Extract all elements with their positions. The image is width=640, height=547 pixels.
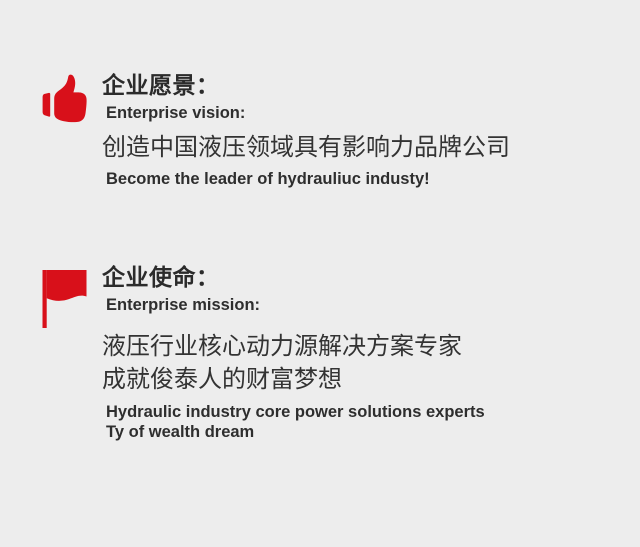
mission-body-en: Hydraulic industry core power solutions … — [102, 402, 485, 443]
mission-heading: 企业使命： — [102, 264, 485, 291]
vision-icon-container — [0, 72, 102, 126]
thumbs-up-icon — [42, 72, 88, 126]
vision-section: 企业愿景： Enterprise vision: 创造中国液压领域具有影响力品牌… — [0, 72, 510, 189]
vision-body-cn: 创造中国液压领域具有影响力品牌公司 — [102, 131, 510, 164]
vision-body-cn-line: 创造中国液压领域具有影响力品牌公司 — [102, 131, 510, 164]
vision-subheading: Enterprise vision: — [102, 103, 510, 124]
mission-text-container: 企业使命： Enterprise mission: 液压行业核心动力源解决方案专… — [102, 264, 485, 443]
vision-body-en: Become the leader of hydrauliuc industy! — [102, 169, 510, 189]
mission-body-cn: 液压行业核心动力源解决方案专家 成就俊泰人的财富梦想 — [102, 330, 485, 396]
mission-body-en-line: Ty of wealth dream — [106, 422, 485, 442]
mission-subheading: Enterprise mission: — [102, 295, 485, 316]
mission-body-cn-line: 成就俊泰人的财富梦想 — [102, 363, 485, 396]
vision-body-en-line: Become the leader of hydrauliuc industy! — [106, 169, 510, 189]
page-root: 企业愿景： Enterprise vision: 创造中国液压领域具有影响力品牌… — [0, 0, 640, 547]
mission-icon-container — [0, 264, 102, 330]
mission-section: 企业使命： Enterprise mission: 液压行业核心动力源解决方案专… — [0, 264, 485, 443]
flag-icon — [42, 264, 92, 330]
mission-body-en-line: Hydraulic industry core power solutions … — [106, 402, 485, 422]
vision-text-container: 企业愿景： Enterprise vision: 创造中国液压领域具有影响力品牌… — [102, 72, 510, 189]
vision-heading: 企业愿景： — [102, 72, 510, 99]
mission-body-cn-line: 液压行业核心动力源解决方案专家 — [102, 330, 485, 363]
